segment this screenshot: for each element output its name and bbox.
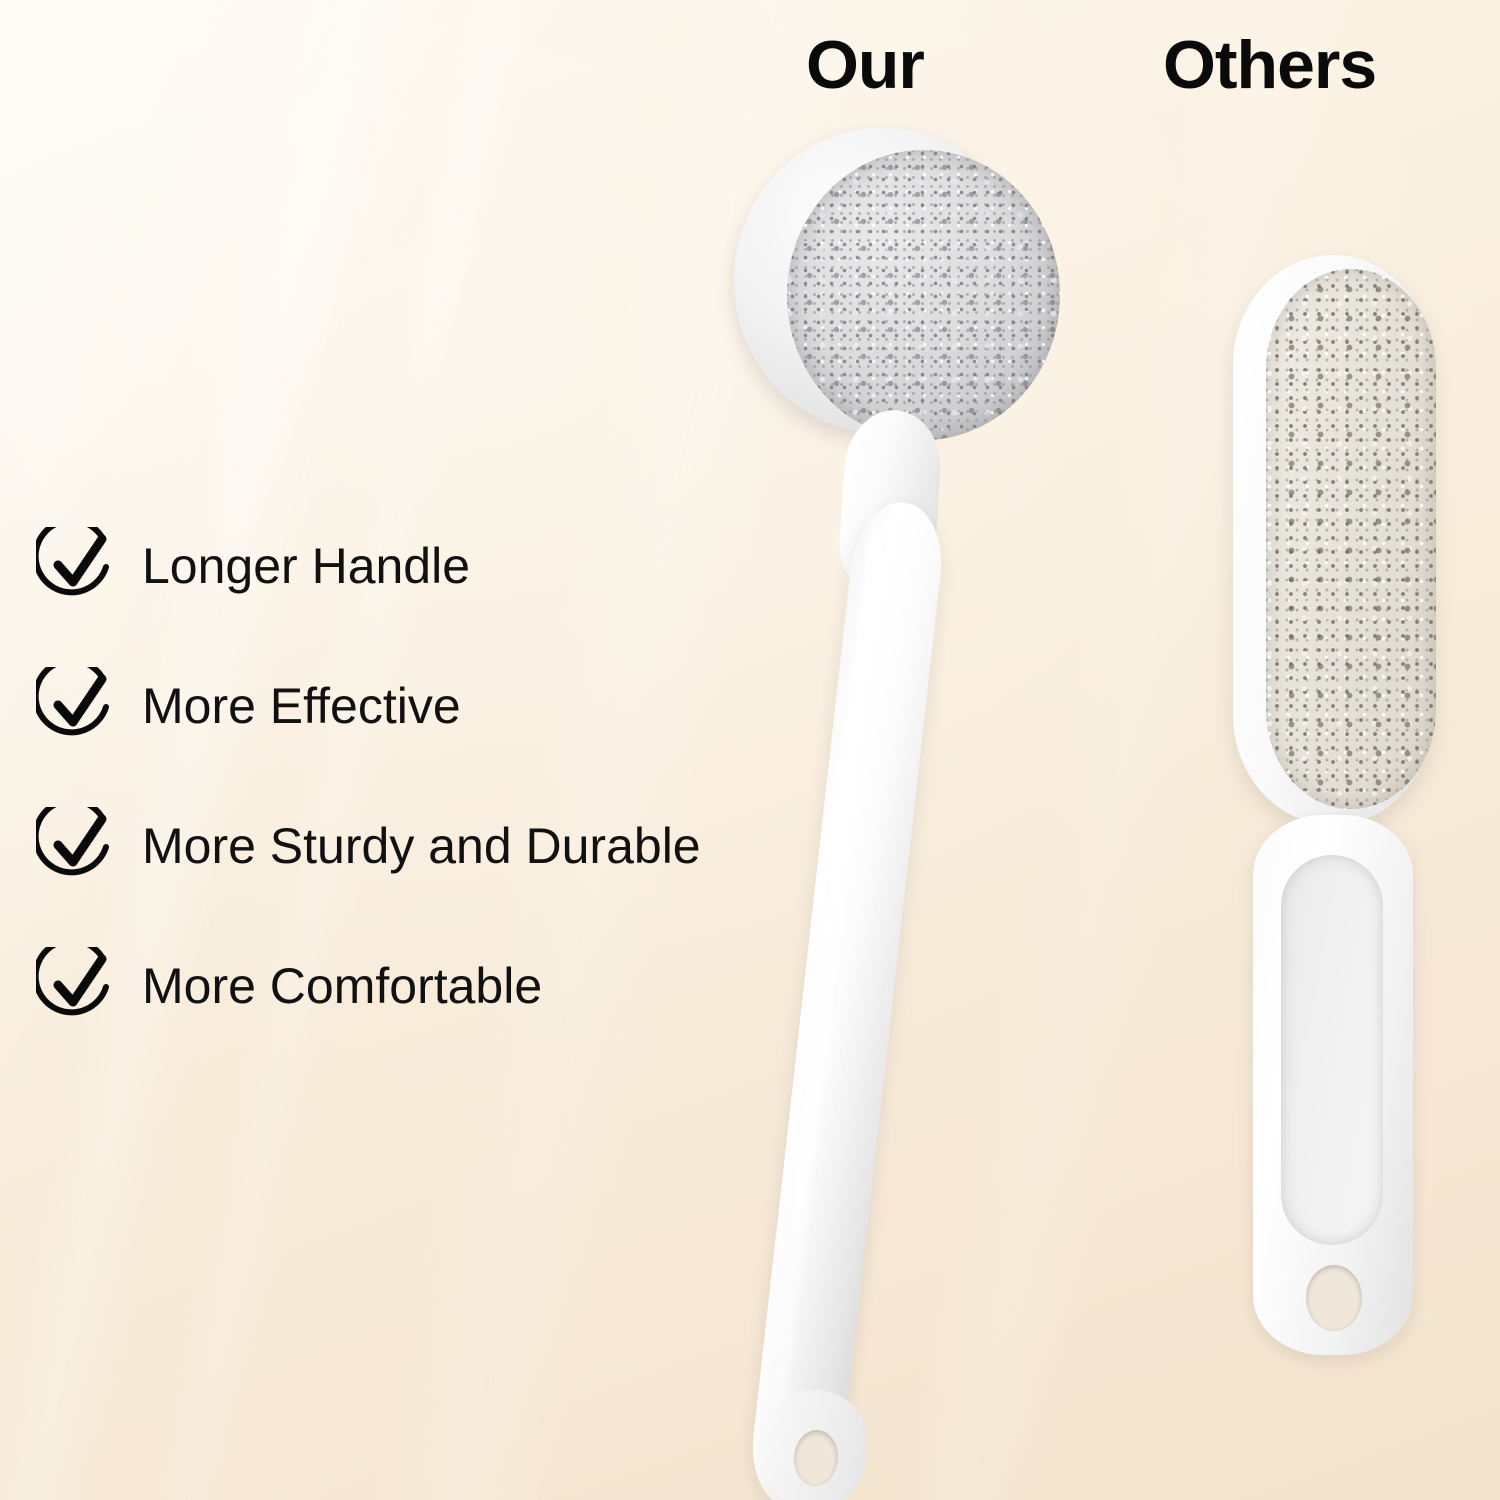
feature-list: Longer Handle More Effective More Sturdy…	[36, 496, 796, 1056]
feature-label: Longer Handle	[142, 540, 470, 593]
check-circle-icon	[36, 947, 114, 1025]
feature-item: More Comfortable	[36, 916, 796, 1056]
check-circle-icon	[36, 527, 114, 605]
feature-label: More Effective	[142, 680, 461, 733]
others-product-pumice-surface	[1266, 269, 1436, 809]
heading-our: Our	[806, 26, 924, 104]
our-product-image	[690, 120, 1090, 1490]
feature-item: Longer Handle	[36, 496, 796, 636]
others-product-head	[1233, 255, 1433, 825]
feature-label: More Comfortable	[142, 960, 542, 1013]
others-product-hang-hole	[1306, 1265, 1362, 1331]
others-product-image	[1215, 255, 1475, 1375]
feature-label: More Sturdy and Durable	[142, 820, 701, 873]
others-product-grip	[1281, 855, 1383, 1245]
feature-item: More Sturdy and Durable	[36, 776, 796, 916]
our-product-pumice-surface	[787, 150, 1060, 440]
our-product-head	[734, 128, 1029, 433]
feature-item: More Effective	[36, 636, 796, 776]
heading-others: Others	[1163, 26, 1376, 104]
check-circle-icon	[36, 667, 114, 745]
check-circle-icon	[36, 807, 114, 885]
our-product-handle	[746, 500, 948, 1500]
product-comparison-image: Our Others Longer Handle More Effective	[0, 0, 1500, 1500]
